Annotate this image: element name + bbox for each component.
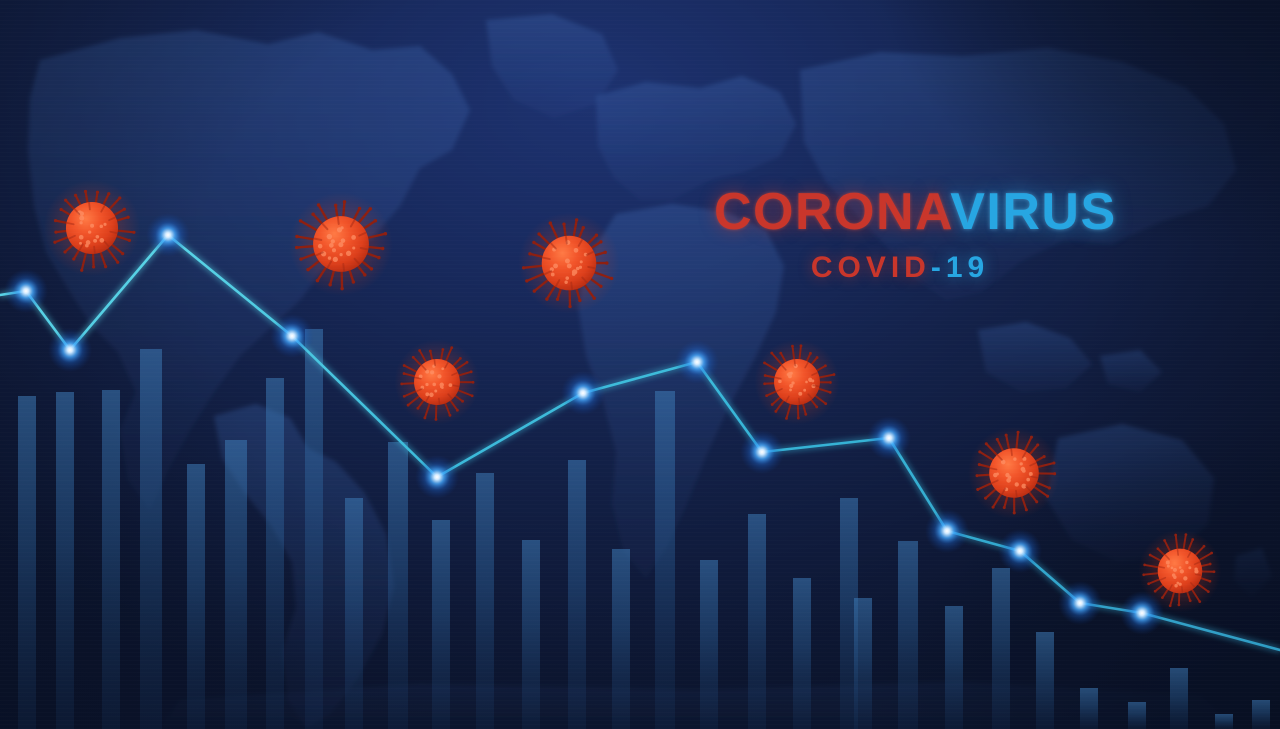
title-part-virus: VIRUS — [950, 183, 1116, 241]
virus-particle-5 — [754, 339, 839, 424]
subtitle-part-covid: COVID — [811, 251, 931, 284]
subtitle-part-19: -19 — [931, 251, 989, 284]
virus-body — [414, 359, 460, 405]
virus-body — [66, 202, 118, 254]
virus-particle-1 — [44, 180, 141, 277]
title-part-corona: CORONA — [714, 183, 950, 241]
page-title: CORONAVIRUS — [714, 186, 1086, 239]
page-subtitle: COVID-19 — [714, 251, 1086, 285]
virus-particle-2 — [289, 192, 393, 296]
virus-particle-6 — [968, 427, 1060, 519]
poster-canvas: CORONAVIRUS COVID-19 — [0, 0, 1280, 729]
virus-particle-4 — [394, 339, 479, 424]
virus-particle-group — [0, 0, 1280, 729]
poster-title-block: CORONAVIRUS COVID-19 — [714, 186, 1086, 285]
virus-particle-3 — [518, 212, 619, 313]
virus-particle-7 — [1139, 530, 1222, 613]
